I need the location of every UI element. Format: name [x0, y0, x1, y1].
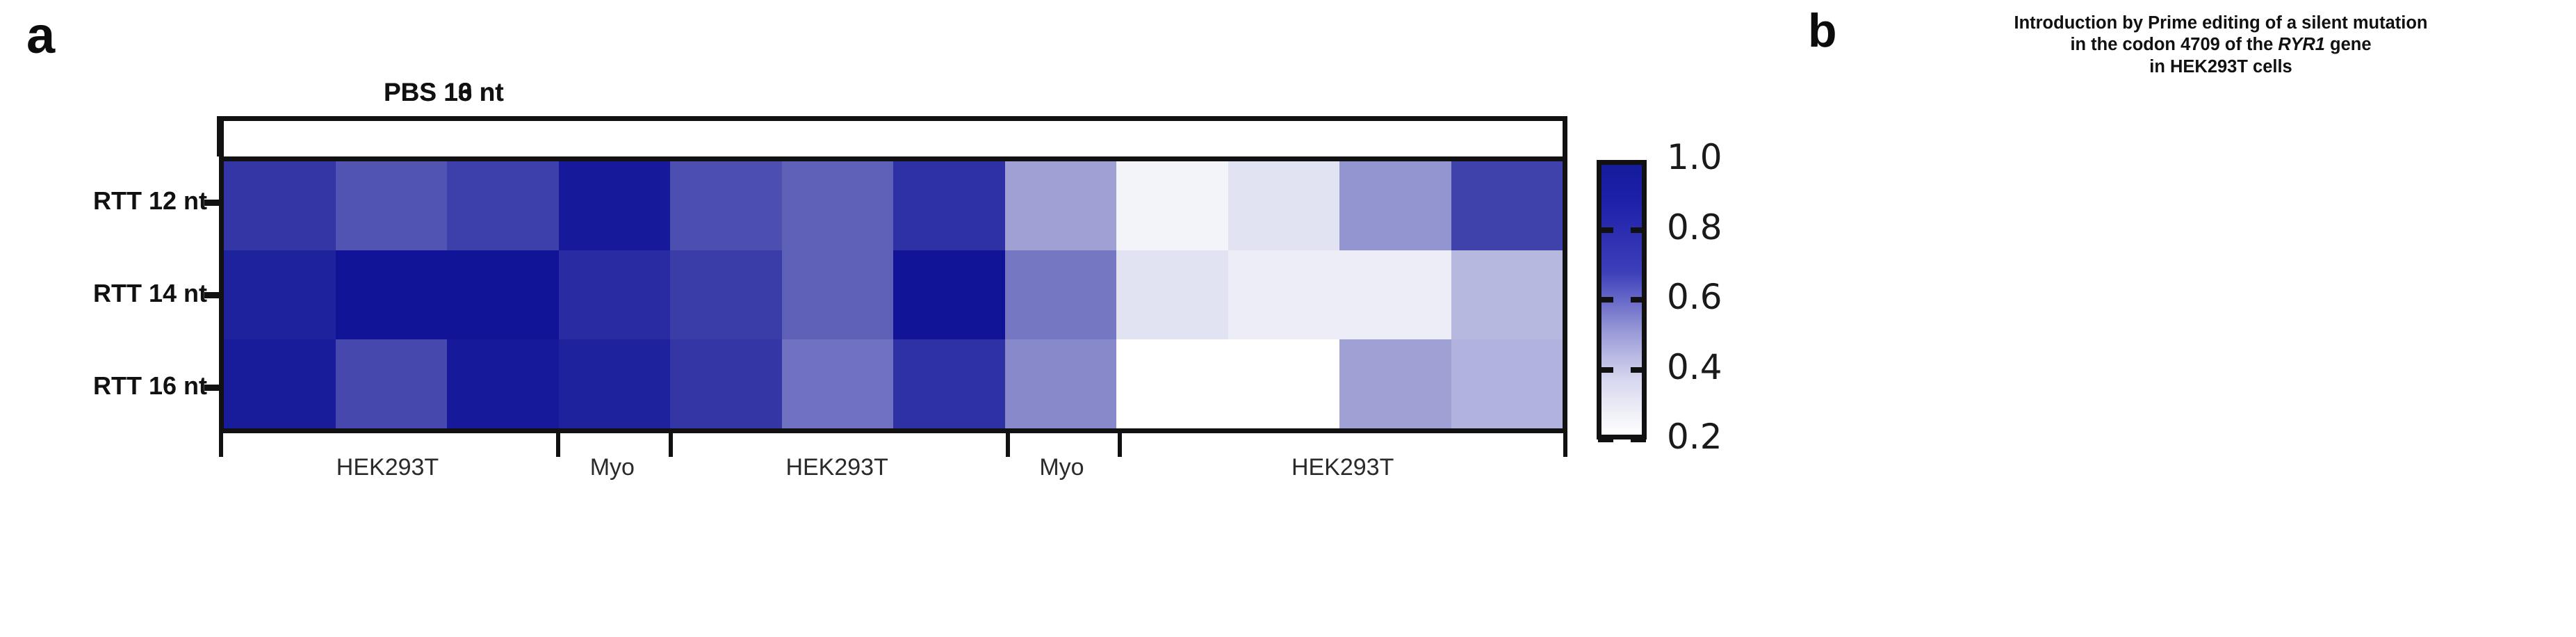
heatmap-cell [1339, 339, 1451, 428]
heatmap-cell [782, 161, 894, 250]
heatmap-cell [1451, 339, 1563, 428]
colorbar-tick [1598, 297, 1613, 303]
heatmap-cell [1451, 161, 1563, 250]
heatmap-cell [1339, 250, 1451, 339]
heatmap-row [224, 339, 1563, 428]
heatmap-cell [336, 161, 448, 250]
cell-type-tick [1118, 433, 1122, 457]
heatmap-cell [1005, 250, 1117, 339]
colorbar-tick-label: 0.8 [1667, 207, 1722, 248]
heatmap-cell [1116, 161, 1228, 250]
heatmap-cell [447, 250, 559, 339]
cell-type-label: HEK293T [669, 454, 1006, 481]
heatmap-cell [336, 250, 448, 339]
heatmap-cell [224, 250, 336, 339]
heatmap-cell [1005, 339, 1117, 428]
heatmap-cell [559, 339, 671, 428]
heatmap-row-tick [204, 385, 224, 391]
colorbar-tick-label: 0.4 [1667, 347, 1722, 387]
cell-type-tick [556, 433, 560, 457]
panel-a-heatmap: a PBS 10 ntPBS 13 ntPBS 16 nt RTT 12 ntR… [0, 0, 1807, 637]
heatmap-row-label: RTT 14 nt [93, 279, 207, 308]
heatmap-cell [893, 161, 1005, 250]
heatmap-cell [1451, 250, 1563, 339]
heatmap-grid [219, 156, 1567, 433]
heatmap-row [224, 161, 1563, 250]
heatmap-row-tick [204, 292, 224, 298]
heatmap-cell [670, 250, 782, 339]
cell-type-tick [1563, 433, 1567, 457]
heatmap-cell [1228, 161, 1340, 250]
panel-a-label: a [26, 6, 55, 65]
heatmap-row-tick [204, 200, 224, 206]
cell-type-tick [669, 433, 673, 457]
heatmap-cell [670, 161, 782, 250]
heatmap-cell [1005, 161, 1117, 250]
heatmap-cell [559, 161, 671, 250]
heatmap-cell [1228, 250, 1340, 339]
heatmap-cell [1116, 250, 1228, 339]
heatmap-cell [447, 161, 559, 250]
heatmap-cell [893, 250, 1005, 339]
cell-type-label: Myo [1006, 454, 1118, 481]
heatmap-cell [782, 250, 894, 339]
colorbar-tick-label: 0.2 [1667, 417, 1722, 457]
heatmap-row-labels: RTT 12 ntRTT 14 ntRTT 16 nt [0, 156, 209, 433]
heatmap-row-label: RTT 12 nt [93, 186, 207, 216]
heatmap-cell [670, 339, 782, 428]
column-group-divider [217, 116, 222, 156]
heatmap-row [224, 250, 1563, 339]
column-group-label: PBS 16 nt [219, 78, 669, 107]
cell-type-tick [1006, 433, 1010, 457]
colorbar-tick-label: 1.0 [1667, 137, 1722, 177]
heatmap-cell [447, 339, 559, 428]
heatmap-cell [1228, 339, 1340, 428]
heatmap-cell [559, 250, 671, 339]
colorbar-tick [1598, 367, 1613, 373]
cell-type-label: HEK293T [219, 454, 556, 481]
heatmap-cell [1339, 161, 1451, 250]
colorbar-tick [1631, 367, 1646, 373]
colorbar-tick [1631, 437, 1646, 442]
bar-plot-area: % of edition RTT length (nt) 01020304050… [1807, 0, 2576, 637]
heatmap-cell [893, 339, 1005, 428]
heatmap-cell [1116, 339, 1228, 428]
colorbar-tick [1631, 297, 1646, 303]
heatmap-cell [224, 339, 336, 428]
colorbar-tick [1598, 227, 1613, 233]
colorbar-tick [1598, 437, 1613, 442]
cell-type-tick [219, 433, 223, 457]
colorbar-tick [1631, 227, 1646, 233]
cell-type-bracket [219, 433, 1567, 457]
heatmap-cell [336, 339, 448, 428]
heatmap-row-label: RTT 16 nt [93, 371, 207, 401]
cell-type-label: HEK293T [1118, 454, 1567, 481]
column-group-bracket [219, 116, 1567, 156]
cell-type-label: Myo [556, 454, 669, 481]
heatmap-cell [224, 161, 336, 250]
colorbar-tick-label: 0.6 [1667, 277, 1722, 317]
heatmap-cell [782, 339, 894, 428]
